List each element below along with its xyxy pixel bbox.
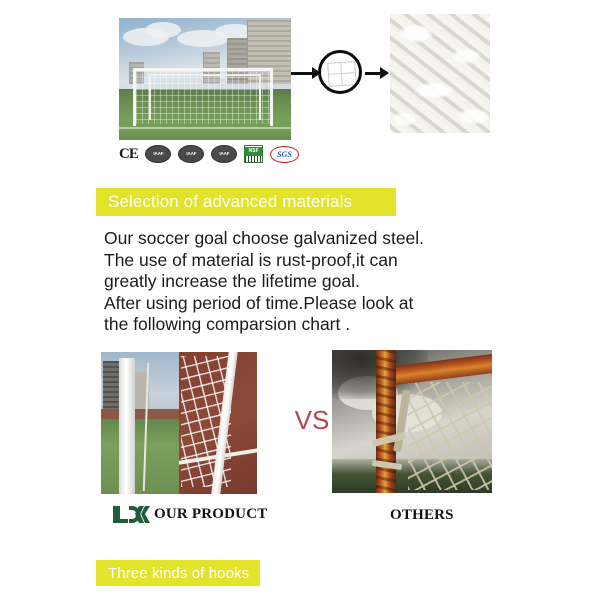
soccer-goal-photo — [119, 18, 291, 140]
magnifier-circle-icon — [318, 50, 362, 94]
top-photo-section: CE IAAF IAAF IAAF NSF SGS — [0, 0, 600, 172]
materials-banner: Selection of advanced materials — [96, 188, 396, 216]
goal-post-photo-half — [101, 352, 179, 494]
vs-label: VS — [289, 405, 335, 436]
our-product-label-text: OUR PRODUCT — [154, 506, 267, 523]
white-goal-post — [119, 358, 135, 494]
goal-net-photo-half — [179, 352, 257, 494]
magnified-net-shape — [327, 61, 357, 87]
ldx-brand-logo-icon — [112, 505, 150, 524]
others-label-text: OTHERS — [390, 507, 454, 523]
certification-badges-row: CE IAAF IAAF IAAF NSF SGS — [119, 143, 299, 165]
arrow-shaft-left — [291, 72, 313, 75]
product-detail-page: CE IAAF IAAF IAAF NSF SGS Selection of a… — [0, 0, 600, 600]
net-closeup-photo — [390, 14, 490, 133]
iaaf-badge-icon: IAAF — [211, 145, 237, 163]
comparison-labels-row: OUR PRODUCT OTHERS — [0, 505, 600, 531]
rusted-net-mesh — [408, 382, 492, 490]
sgs-badge-icon: SGS — [270, 146, 299, 163]
hooks-banner-title: Three kinds of hooks — [96, 565, 249, 582]
nsf-badge-icon: NSF — [244, 145, 262, 163]
rusted-goal-post — [376, 350, 396, 493]
cloud-shape — [145, 22, 181, 38]
iaaf-badge-icon: IAAF — [178, 145, 204, 163]
arrow-head-right — [380, 67, 389, 79]
others-product-photo — [332, 350, 492, 493]
others-label-group: OTHERS — [390, 506, 454, 524]
net-rope-texture — [390, 14, 490, 133]
ce-mark-icon: CE — [119, 147, 138, 162]
materials-description-text: Our soccer goal choose galvanized steel.… — [104, 228, 524, 336]
materials-banner-title: Selection of advanced materials — [96, 192, 352, 212]
pitch-marking-line — [119, 127, 291, 129]
goal-frame-inner — [149, 74, 261, 120]
our-product-photo — [101, 352, 257, 494]
hooks-banner: Three kinds of hooks — [96, 560, 260, 586]
iaaf-badge-icon: IAAF — [145, 145, 171, 163]
magnifier-diagram — [291, 46, 389, 102]
our-product-label-group: OUR PRODUCT — [112, 505, 267, 524]
